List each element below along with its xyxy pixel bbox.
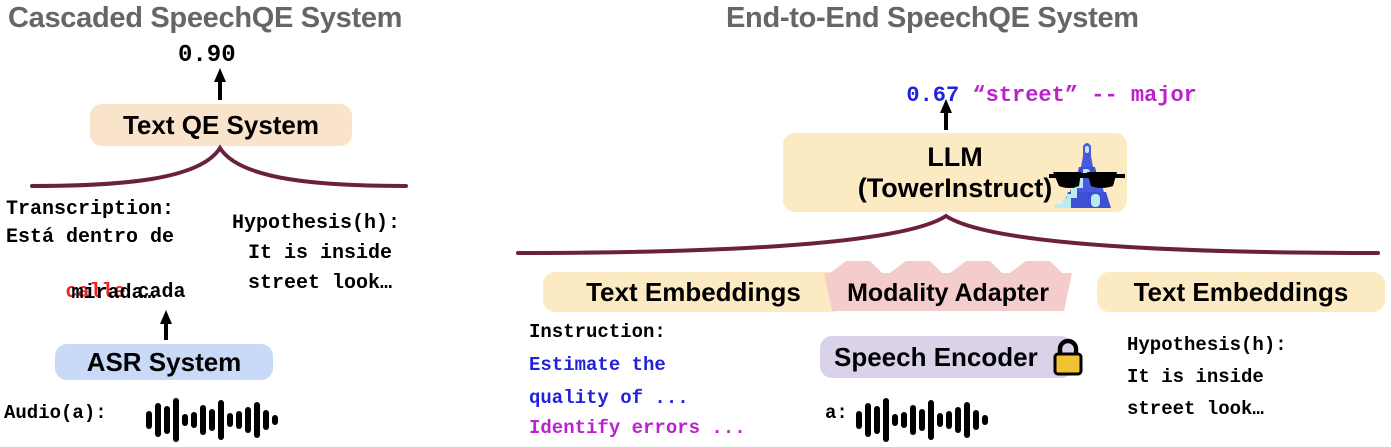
instruction-line-3: Identify errors ...: [529, 415, 746, 441]
error-span-text: “street”: [972, 83, 1078, 108]
llm-label-line-1: LLM: [927, 142, 982, 172]
waveform-bar: [254, 402, 260, 438]
waveform-bar: [155, 403, 161, 437]
waveform-bar: [164, 406, 170, 434]
modality-adapter-box[interactable]: Modality Adapter: [824, 273, 1072, 313]
asr-system-label: ASR System: [87, 347, 242, 378]
waveform-bar: [191, 412, 197, 428]
left-panel-title: Cascaded SpeechQE System: [8, 2, 402, 35]
waveform-bar: [236, 411, 242, 429]
waveform-bar: [928, 400, 934, 440]
waveform-bar: [263, 410, 269, 430]
right-hypothesis-line-2: street look…: [1127, 396, 1264, 422]
severity-gap: [1078, 83, 1091, 108]
modality-adapter-label: Modality Adapter: [847, 279, 1049, 308]
waveform-bar: [901, 412, 907, 428]
transcription-line-1: Está dentro de: [6, 224, 174, 251]
text-qe-system-label: Text QE System: [123, 110, 319, 141]
lock-icon: [1051, 337, 1085, 377]
right-panel-title: End-to-End SpeechQE System: [726, 2, 1139, 35]
waveform-bar: [856, 411, 862, 429]
waveform-bar: [964, 402, 970, 438]
instruction-label: Instruction:: [529, 319, 666, 345]
waveform-bar: [146, 411, 152, 429]
waveform-bar: [209, 409, 215, 431]
right-audio-label: a:: [825, 400, 848, 427]
waveform-bar: [200, 405, 206, 435]
error-severity-text: -- major: [1091, 83, 1197, 108]
left-hypothesis-line-2: street look…: [248, 270, 392, 297]
right-hypothesis-label: Hypothesis(h):: [1127, 332, 1287, 358]
text-embeddings-left-label: Text Embeddings: [586, 277, 801, 308]
text-embeddings-right-box[interactable]: Text Embeddings: [1097, 272, 1385, 312]
waveform-bar: [919, 409, 925, 431]
waveform-bar: [182, 414, 188, 426]
waveform-bar: [883, 398, 889, 442]
waveform-bar: [973, 410, 979, 430]
text-qe-system-box[interactable]: Text QE System: [90, 104, 352, 146]
left-score-value: 0.90: [178, 42, 236, 69]
waveform-bar: [982, 415, 988, 425]
llm-label-line-2: (TowerInstruct): [858, 172, 1053, 204]
left-audio-label: Audio(a):: [4, 400, 107, 427]
right-score-line: 0.67 “street” -- major: [880, 58, 1197, 108]
text-embeddings-left-box[interactable]: Text Embeddings: [543, 272, 844, 312]
waveform-bar: [173, 398, 179, 442]
waveform-bar: [245, 407, 251, 433]
waveform-bar: [272, 415, 278, 425]
waveform-bar: [227, 413, 233, 427]
left-audio-waveform: [146, 397, 278, 443]
text-embeddings-right-label: Text Embeddings: [1134, 277, 1349, 308]
tower-sunglasses-icon: [1047, 136, 1127, 212]
transcription-line-3: mirada…: [6, 280, 221, 307]
left-hypothesis-label: Hypothesis(h):: [232, 210, 400, 237]
score-gap: [959, 83, 972, 108]
instruction-line-1: Estimate the: [529, 352, 666, 378]
asr-system-box[interactable]: ASR System: [55, 344, 273, 380]
waveform-bar: [865, 403, 871, 437]
right-audio-waveform: [856, 397, 988, 443]
left-hypothesis-line-1: It is inside: [248, 240, 392, 267]
waveform-bar: [955, 407, 961, 433]
waveform-bar: [910, 405, 916, 435]
speech-encoder-label: Speech Encoder: [834, 342, 1038, 373]
waveform-bar: [218, 400, 224, 440]
waveform-bar: [937, 413, 943, 427]
instruction-line-2: quality of ...: [529, 385, 689, 411]
speech-encoder-box[interactable]: Speech Encoder: [820, 336, 1073, 378]
transcription-label: Transcription:: [6, 196, 174, 223]
right-hypothesis-line-1: It is inside: [1127, 364, 1264, 390]
waveform-bar: [874, 406, 880, 434]
right-score-value: 0.67: [906, 83, 959, 108]
waveform-bar: [946, 411, 952, 429]
waveform-bar: [892, 414, 898, 426]
